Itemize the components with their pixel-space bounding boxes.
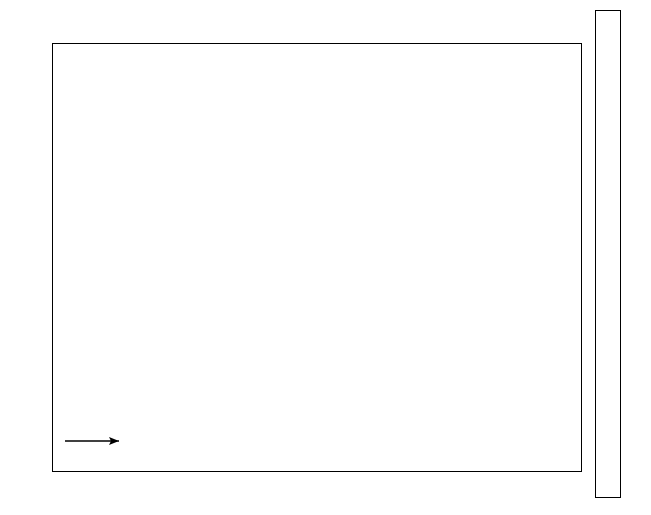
- map-plot-area[interactable]: [52, 43, 582, 472]
- figure-root: [0, 0, 651, 515]
- right-arrow-icon: [63, 429, 133, 449]
- scale-bar: [63, 429, 133, 454]
- colorbar: [595, 10, 621, 498]
- overlay-vectors-svg: [53, 44, 580, 470]
